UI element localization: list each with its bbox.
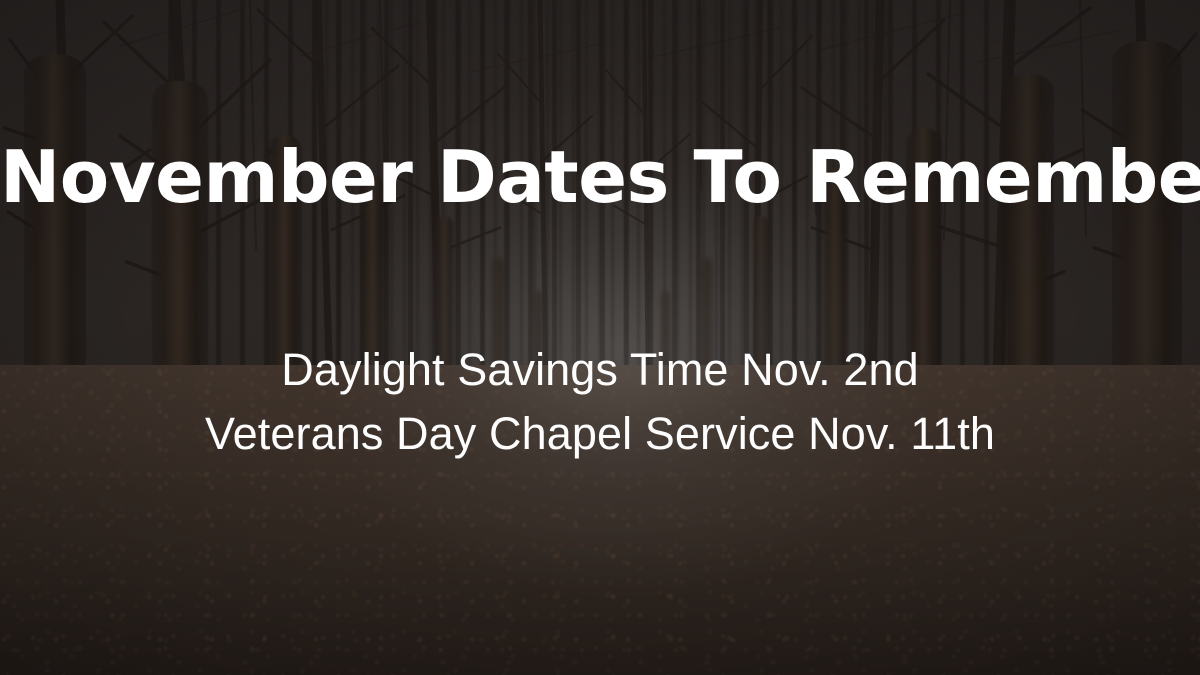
announcement-slide: November Dates To Remember Daylight Savi… [0, 0, 1200, 675]
forest-background-image [0, 0, 1200, 675]
leaf-covered-ground [0, 365, 1200, 675]
